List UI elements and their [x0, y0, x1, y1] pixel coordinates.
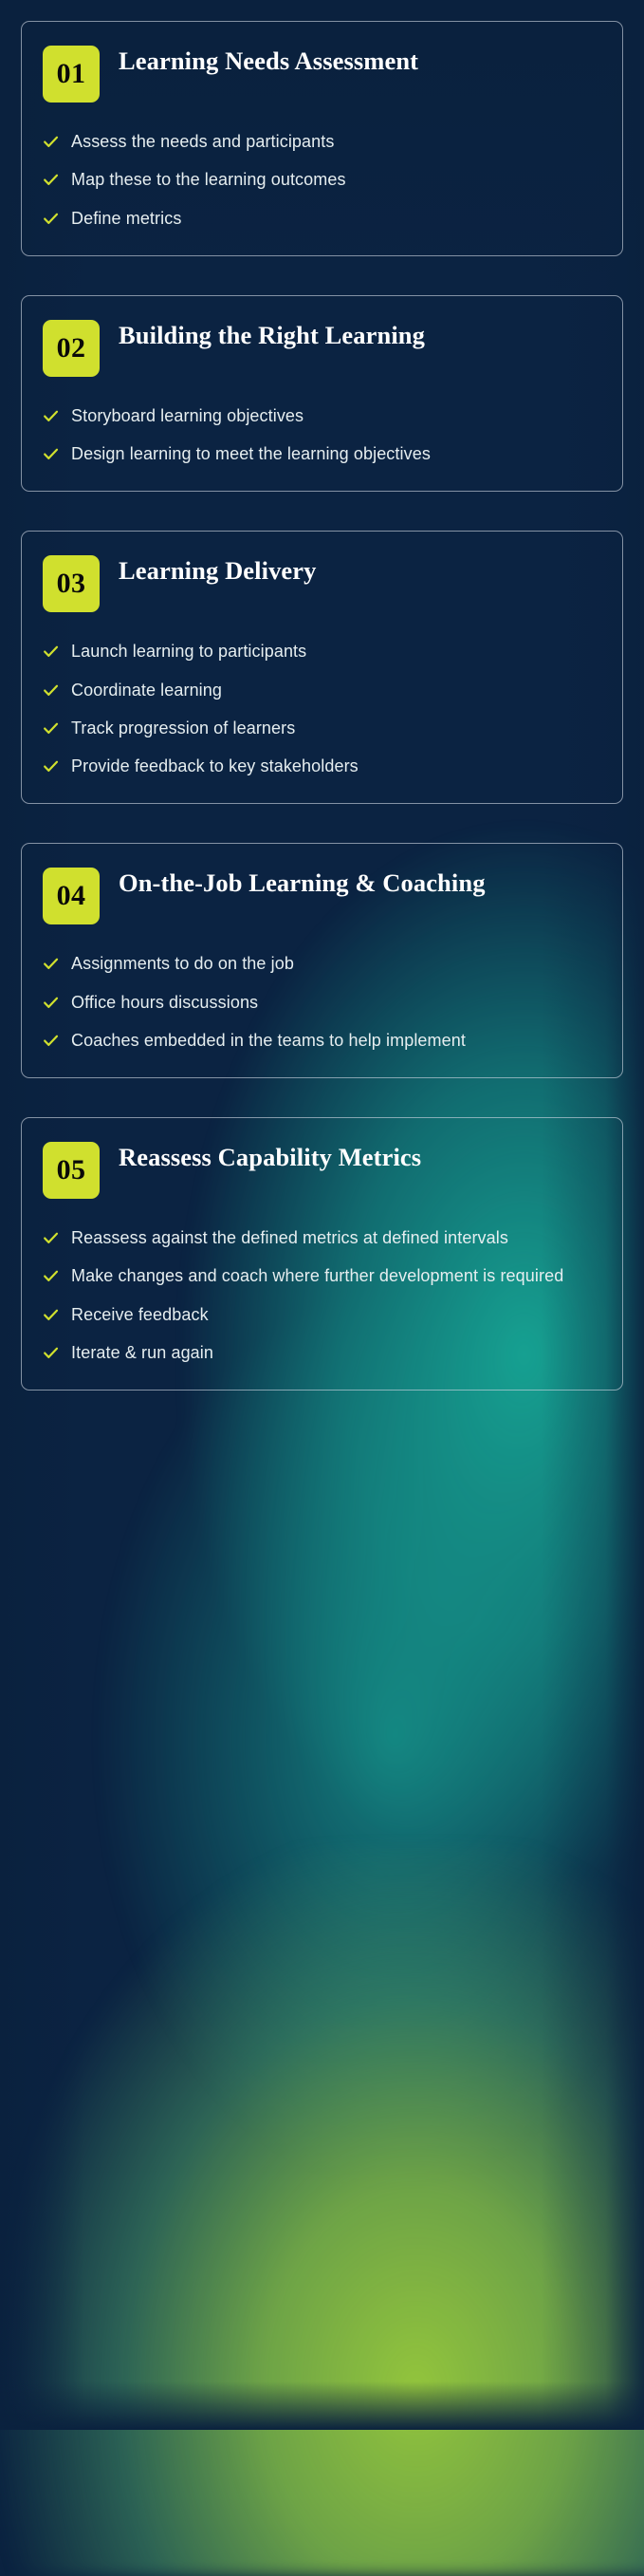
step-card: 03Learning DeliveryLaunch learning to pa… — [21, 531, 623, 804]
check-icon — [43, 995, 59, 1011]
list-item: Provide feedback to key stakeholders — [43, 754, 601, 778]
step-title: On-the-Job Learning & Coaching — [119, 868, 486, 898]
bullet-text: Design learning to meet the learning obj… — [71, 441, 431, 466]
bullet-text: Office hours discussions — [71, 990, 258, 1015]
step-card-header: 05Reassess Capability Metrics — [43, 1142, 601, 1199]
bullet-text: Make changes and coach where further dev… — [71, 1263, 563, 1288]
bullet-text: Assess the needs and participants — [71, 129, 334, 154]
bullet-text: Define metrics — [71, 206, 181, 231]
check-icon — [43, 446, 59, 462]
check-icon — [43, 134, 59, 150]
step-card-header: 04On-the-Job Learning & Coaching — [43, 868, 601, 924]
list-item: Track progression of learners — [43, 716, 601, 740]
step-number-badge: 05 — [43, 1142, 100, 1199]
step-title: Learning Delivery — [119, 555, 317, 586]
step-bullet-list: Storyboard learning objectivesDesign lea… — [43, 403, 601, 467]
step-bullet-list: Assess the needs and participantsMap the… — [43, 129, 601, 231]
lime-glow-decoration — [0, 1847, 644, 2576]
bullet-text: Launch learning to participants — [71, 639, 306, 663]
step-number-badge: 04 — [43, 868, 100, 924]
step-card: 02Building the Right LearningStoryboard … — [21, 295, 623, 493]
bullet-text: Track progression of learners — [71, 716, 295, 740]
check-icon — [43, 758, 59, 775]
list-item: Design learning to meet the learning obj… — [43, 441, 601, 466]
bullet-text: Assignments to do on the job — [71, 951, 294, 976]
list-item: Reassess against the defined metrics at … — [43, 1225, 601, 1250]
step-number-badge: 01 — [43, 46, 100, 103]
bullet-text: Provide feedback to key stakeholders — [71, 754, 359, 778]
check-icon — [43, 1307, 59, 1323]
check-icon — [43, 408, 59, 424]
steps-list: 01Learning Needs AssessmentAssess the ne… — [0, 0, 644, 1428]
bullet-text: Map these to the learning outcomes — [71, 167, 346, 192]
check-icon — [43, 1230, 59, 1246]
check-icon — [43, 956, 59, 972]
step-card: 04On-the-Job Learning & CoachingAssignme… — [21, 843, 623, 1078]
bullet-text: Coaches embedded in the teams to help im… — [71, 1028, 466, 1053]
step-card-header: 02Building the Right Learning — [43, 320, 601, 377]
bullet-text: Storyboard learning objectives — [71, 403, 304, 428]
list-item: Assess the needs and participants — [43, 129, 601, 154]
step-card-header: 03Learning Delivery — [43, 555, 601, 612]
check-icon — [43, 1268, 59, 1284]
step-bullet-list: Reassess against the defined metrics at … — [43, 1225, 601, 1365]
list-item: Define metrics — [43, 206, 601, 231]
list-item: Receive feedback — [43, 1302, 601, 1327]
step-title: Learning Needs Assessment — [119, 46, 418, 76]
bullet-text: Coordinate learning — [71, 678, 222, 702]
check-icon — [43, 1345, 59, 1361]
list-item: Iterate & run again — [43, 1340, 601, 1365]
check-icon — [43, 172, 59, 188]
check-icon — [43, 211, 59, 227]
list-item: Map these to the learning outcomes — [43, 167, 601, 192]
bullet-text: Iterate & run again — [71, 1340, 213, 1365]
check-icon — [43, 644, 59, 660]
step-title: Reassess Capability Metrics — [119, 1142, 421, 1172]
list-item: Assignments to do on the job — [43, 951, 601, 976]
list-item: Storyboard learning objectives — [43, 403, 601, 428]
list-item: Launch learning to participants — [43, 639, 601, 663]
list-item: Coordinate learning — [43, 678, 601, 702]
step-number-badge: 02 — [43, 320, 100, 377]
step-title: Building the Right Learning — [119, 320, 425, 350]
step-card: 05Reassess Capability MetricsReassess ag… — [21, 1117, 623, 1391]
bullet-text: Receive feedback — [71, 1302, 209, 1327]
list-item: Coaches embedded in the teams to help im… — [43, 1028, 601, 1053]
step-card: 01Learning Needs AssessmentAssess the ne… — [21, 21, 623, 256]
list-item: Make changes and coach where further dev… — [43, 1263, 601, 1288]
check-icon — [43, 1033, 59, 1049]
list-item: Office hours discussions — [43, 990, 601, 1015]
step-bullet-list: Assignments to do on the jobOffice hours… — [43, 951, 601, 1053]
step-number-badge: 03 — [43, 555, 100, 612]
bullet-text: Reassess against the defined metrics at … — [71, 1225, 508, 1250]
check-icon — [43, 720, 59, 737]
step-card-header: 01Learning Needs Assessment — [43, 46, 601, 103]
step-bullet-list: Launch learning to participantsCoordinat… — [43, 639, 601, 778]
check-icon — [43, 682, 59, 699]
